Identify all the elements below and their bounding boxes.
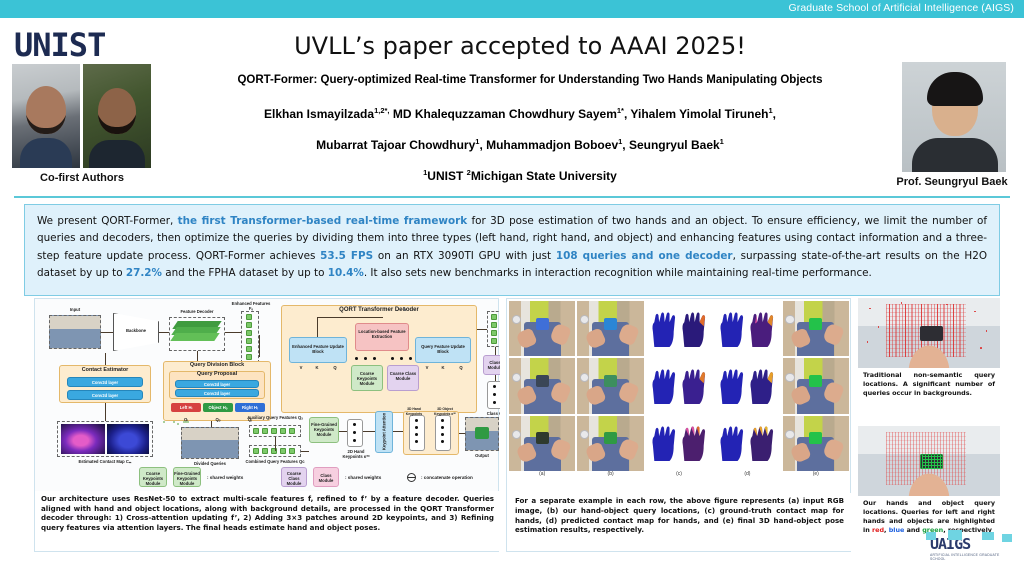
connector <box>197 351 198 361</box>
label-vkq-q-left: Q <box>331 365 339 370</box>
token-dot <box>400 357 403 360</box>
label-kp-attention: Keypoint Attention <box>382 412 387 452</box>
result-image-a2 <box>509 358 575 413</box>
paper-title: QORT-Former: Query-optimized Real-time T… <box>190 74 870 86</box>
result-image-d3 <box>714 416 780 471</box>
label-query-right: Right Hᵣ <box>235 405 265 410</box>
connector <box>159 332 169 333</box>
feature-cell <box>246 346 252 352</box>
author-photo-1 <box>12 64 80 168</box>
co-first-authors-caption: Co-first Authors <box>6 172 158 184</box>
column-label-a: (a) <box>509 471 575 481</box>
connector <box>477 329 487 330</box>
abstract-highlight-1: the first Transformer-based real-time fr… <box>178 215 468 227</box>
hand-silhouette-right <box>680 311 708 347</box>
color-word-red: red <box>872 526 884 534</box>
feature-sheet-3 <box>170 333 219 341</box>
results-caption: For a separate example in each row, the … <box>507 493 852 551</box>
kp3d-right-dot <box>441 440 444 443</box>
connector <box>317 317 318 337</box>
fine-keypoints-module-box <box>183 421 185 423</box>
label-kp-3d-left: 3D Hand Keypoints <box>401 407 427 417</box>
label-enhanced-features: Enhanced Features Fₑ <box>231 301 271 311</box>
result-image-e3 <box>783 416 849 471</box>
label-feature-decoder: Feature Decoder <box>165 309 229 314</box>
fine-grained-keypoints <box>163 421 165 423</box>
hand-silhouette-right <box>748 425 776 461</box>
label-aux-query: Auxiliary Query Features Qₐ <box>247 415 303 420</box>
connector <box>275 437 276 451</box>
affiliations: 1UNIST 2Michigan State University <box>190 168 850 183</box>
result-image-d2 <box>714 358 780 413</box>
column-label-d: (d) <box>714 471 780 481</box>
kp3d-left-dot <box>415 433 418 436</box>
affiliation-1-label: UNIST <box>427 169 463 183</box>
author-1-affil: 1,2*, <box>374 106 389 115</box>
aux-cell <box>271 428 277 434</box>
label-legend-class: Class Module <box>313 473 339 483</box>
label-loc-feat-extract: Location-based Feature Extraction <box>355 329 409 339</box>
combined-cell <box>280 448 286 454</box>
results-panel: (a) (b) (c) (d) (e) For a separate examp… <box>506 298 851 552</box>
label-input: Input <box>49 307 101 312</box>
column-label-e: (e) <box>783 471 849 481</box>
hand-silhouette-left <box>650 368 678 404</box>
aux-cell <box>289 428 295 434</box>
photo-hair-shape <box>927 72 983 106</box>
connector <box>317 317 383 318</box>
abstract-seg-6: . It also sets new benchmarks in interac… <box>364 267 872 279</box>
label-contact-estimator: Contact Estimator <box>59 368 151 373</box>
affiliation-2-label: Michigan State University <box>471 169 617 183</box>
label-coarse-keypoints: Coarse Keypoints Module <box>351 371 383 386</box>
our-queries-image <box>858 426 1000 496</box>
header-divider <box>14 196 1010 198</box>
connector <box>393 431 403 432</box>
label-legend-coarse-keypoints: Coarse Keypoints Module <box>139 471 167 486</box>
connector <box>301 451 309 452</box>
label-kp-3d-right: 3D Object Keypoints κ³ᴰ <box>431 407 459 417</box>
affiliation-2: 2Michigan State University <box>467 168 617 183</box>
result-image-b2 <box>577 358 643 413</box>
label-enh-feat-update: Enhanced Feature Update Block <box>289 344 347 354</box>
unist-logo-text: UNIST <box>14 26 105 64</box>
legend-shared-weights-2: : shared weights <box>345 475 403 480</box>
label-contact-conv-1: Conv2d layer <box>67 380 143 385</box>
legend-concat-label: : concatenate operation <box>421 475 497 480</box>
kp3d-left-dot <box>415 419 418 422</box>
label-class-module: Class Module <box>483 360 500 370</box>
label-combined-query: Combined Query Features Qᴄ <box>245 459 305 464</box>
token-dot <box>409 357 412 360</box>
result-image-a1 <box>509 301 575 356</box>
abstract-seg-3: on an RTX 3090TI GPU with just <box>373 250 556 262</box>
fine-grained-module <box>177 423 179 425</box>
connector <box>459 433 465 434</box>
result-image-c1 <box>646 301 712 356</box>
label-output: Output <box>463 453 500 458</box>
kp3d-left-dot <box>415 440 418 443</box>
class-dot <box>493 401 496 404</box>
poster-root: Graduate School of Artificial Intelligen… <box>0 0 1024 576</box>
feature-cell <box>246 354 252 360</box>
kp3d-left-dot <box>415 426 418 429</box>
abstract-box: We present QORT-Former, the first Transf… <box>24 204 1000 296</box>
architecture-diagram: Input Backbone Feature Decoder Enhanced … <box>35 299 500 494</box>
connector <box>339 431 347 432</box>
input-image <box>49 315 101 349</box>
hand-silhouette-right <box>680 425 708 461</box>
page-title: UVLL’s paper accepted to AAAI 2025! <box>180 32 860 60</box>
our-queries-sep-2: and <box>904 526 922 534</box>
right-feature-stack <box>403 307 405 309</box>
hand-silhouette-right <box>748 368 776 404</box>
kp3d-right-dot <box>441 419 444 422</box>
connector <box>101 332 113 333</box>
label-estimated-contact-map: Estimated Contact Map Cₘ <box>51 459 159 464</box>
combined-cell <box>253 448 259 454</box>
kp3d-right-dot <box>441 426 444 429</box>
hand-silhouette-left <box>718 425 746 461</box>
token-dot <box>355 357 358 360</box>
professor-caption: Prof. Seungryul Baek <box>890 176 1014 188</box>
connector <box>225 332 241 333</box>
aigs-footer-logo: UAIGS ARTIFICIAL INTELLIGENCE GRADUATE S… <box>930 536 1012 570</box>
label-vkq-v-right: V <box>423 365 431 370</box>
column-label-c: (c) <box>646 471 712 481</box>
green-query-dots <box>922 455 942 469</box>
hand-silhouette-left <box>718 311 746 347</box>
architecture-panel: Input Backbone Feature Decoder Enhanced … <box>34 298 499 552</box>
professor-photo <box>902 62 1006 172</box>
connector <box>363 431 375 432</box>
right-cell <box>491 314 497 320</box>
kp2d-dot <box>353 431 356 434</box>
result-image-d1 <box>714 301 780 356</box>
abstract-highlight-queries: 108 queries and one decoder <box>556 250 733 262</box>
token-dot <box>373 357 376 360</box>
feature-cell <box>246 330 252 336</box>
combined-cell <box>271 448 277 454</box>
results-column-labels: (a) (b) (c) (d) (e) <box>509 471 849 481</box>
right-cell <box>491 322 497 328</box>
fine-grained-keypoints-module <box>173 421 175 423</box>
kp2d-dot <box>353 423 356 426</box>
result-image-b3 <box>577 416 643 471</box>
traditional-queries-text: Traditional non-semantic query locations… <box>858 368 1000 401</box>
legend-shared-weights: : shared weights <box>207 475 273 480</box>
label-query-proposal: Query Proposal <box>169 372 265 377</box>
hand-silhouette-left <box>718 368 746 404</box>
feature-cell <box>246 322 252 328</box>
feature-cell <box>246 314 252 320</box>
results-image-grid <box>509 301 849 471</box>
hand-silhouette-right <box>748 311 776 347</box>
held-object <box>920 326 943 341</box>
top-banner: Graduate School of Artificial Intelligen… <box>0 0 1024 18</box>
author-2-name: MD Khalequzzaman Chowdhury Sayem <box>390 107 617 121</box>
aigs-logo-subtitle: ARTIFICIAL INTELLIGENCE GRADUATE SCHOOL <box>930 553 1012 561</box>
label-query-left: Left Hₗ <box>171 405 201 410</box>
label-class-c: Class C’ <box>481 411 500 416</box>
contact-map-left-hand <box>61 424 105 454</box>
kp3d-right-dot <box>441 433 444 436</box>
connector <box>105 403 106 421</box>
traditional-queries-card: Traditional non-semantic query locations… <box>858 298 1000 420</box>
token-dot <box>364 357 367 360</box>
result-image-b1 <box>577 301 643 356</box>
label-qort-decoder: QORT Transformer Decoder <box>281 308 477 313</box>
label-qp-conv-1: Conv2d layer <box>175 382 259 387</box>
label-contact-conv-2: Conv2d layer <box>67 393 143 398</box>
result-image-c3 <box>646 416 712 471</box>
affiliation-1: 1UNIST <box>423 168 463 183</box>
abstract-seg-1: We present QORT-Former, <box>37 215 178 227</box>
label-query-object: Object Hₒ <box>203 405 233 410</box>
color-word-blue: blue <box>889 526 905 534</box>
label-vkq-k-left: K <box>313 365 321 370</box>
hand-silhouette-left <box>650 425 678 461</box>
enhanced-out-stack <box>404 309 406 311</box>
author-line-1: Elkhan Ismayilzada1,2*, MD Khalequzzaman… <box>190 106 850 121</box>
connector <box>495 347 496 355</box>
column-label-b: (b) <box>577 471 643 481</box>
hand-silhouette-left <box>650 311 678 347</box>
author-3-name: , Yihalem Yimolal Tiruneh <box>624 107 769 121</box>
result-image-e2 <box>783 358 849 413</box>
connector <box>495 375 496 381</box>
concat-icon-cross <box>408 477 415 478</box>
label-legend-fine-keypoints: Fine-Grained Keypoints Module <box>173 471 201 486</box>
result-image-a3 <box>509 416 575 471</box>
abstract-highlight-h2o: 27.2% <box>126 267 162 279</box>
author-4-name: Mubarrat Tajoar Chowdhury <box>316 138 475 152</box>
author-line-2: Mubarrat Tajoar Chowdhury1, Muhammadjon … <box>190 137 850 152</box>
connector <box>211 421 212 427</box>
abstract-highlight-fpha: 10.4% <box>328 267 364 279</box>
connector <box>105 353 106 365</box>
author-2-affil: 1* <box>617 106 624 115</box>
label-kp-2d: 2D Hand Keypoints κ²ᴰ <box>337 449 375 459</box>
author-1-name: Elkhan Ismayilzada <box>264 107 374 121</box>
divided-queries-image <box>181 427 239 459</box>
label-vkq-k-right: K <box>439 365 447 370</box>
kp2d-dot <box>353 439 356 442</box>
combined-cell <box>289 448 295 454</box>
unist-logo: UNIST <box>14 28 174 62</box>
org-label: Graduate School of Artificial Intelligen… <box>788 2 1014 14</box>
output-object-overlay <box>475 427 489 439</box>
architecture-caption: Our architecture uses ResNet-50 to extra… <box>35 491 500 551</box>
label-qp-conv-2: Conv2d layer <box>175 391 259 396</box>
class-dot <box>493 393 496 396</box>
connector <box>259 335 260 357</box>
aigs-logo-blocks <box>926 532 1016 552</box>
traditional-queries-image <box>858 298 1000 368</box>
label-fine-keypoints: Fine-Grained Keypoints Module <box>309 422 339 437</box>
author-5-name: , Muhammadjon Boboev <box>479 138 618 152</box>
label-coarse-class: Coarse Class Module <box>387 371 419 381</box>
right-cell <box>491 330 497 336</box>
contact-map-right-hand <box>107 424 149 454</box>
photo-body-shape <box>912 138 998 172</box>
label-backbone: Backbone <box>115 328 157 333</box>
label-vkq-q-right: Q <box>457 365 465 370</box>
fgk-module <box>187 421 189 423</box>
abstract-text: We present QORT-Former, the first Transf… <box>37 213 987 283</box>
label-legend-coarse-class: Coarse Class Module <box>281 471 307 486</box>
result-image-e1 <box>783 301 849 356</box>
author-6-name: , Seungryul Baek <box>622 138 719 152</box>
combined-cell <box>262 448 268 454</box>
abstract-highlight-fps: 53.5 FPS <box>320 250 373 262</box>
label-query-feat-update: Query Feature Update Block <box>415 344 471 354</box>
co-first-author-photos <box>12 64 152 168</box>
body-content: Input Backbone Feature Decoder Enhanced … <box>24 298 1000 556</box>
hand-silhouette-right <box>680 368 708 404</box>
feature-cell <box>246 338 252 344</box>
author-6-affil: 1 <box>720 137 724 146</box>
author-photo-2 <box>83 64 151 168</box>
aux-cell <box>280 428 286 434</box>
aux-cell <box>262 428 268 434</box>
abstract-seg-5: and the FPHA dataset by up to <box>162 267 328 279</box>
token-dot <box>391 357 394 360</box>
right-cell <box>491 338 497 344</box>
label-query-division-block: Query Division Block <box>163 363 271 368</box>
result-image-c2 <box>646 358 712 413</box>
aux-cell <box>253 428 259 434</box>
label-divided-queries: Divided Queries <box>177 461 243 466</box>
comparison-panels: Traditional non-semantic query locations… <box>858 298 1000 552</box>
class-dot <box>493 385 496 388</box>
author-line-1-end: , <box>773 107 776 121</box>
label-vkq-v-left: V <box>297 365 305 370</box>
author-list: Elkhan Ismayilzada1,2*, MD Khalequzzaman… <box>190 106 850 183</box>
